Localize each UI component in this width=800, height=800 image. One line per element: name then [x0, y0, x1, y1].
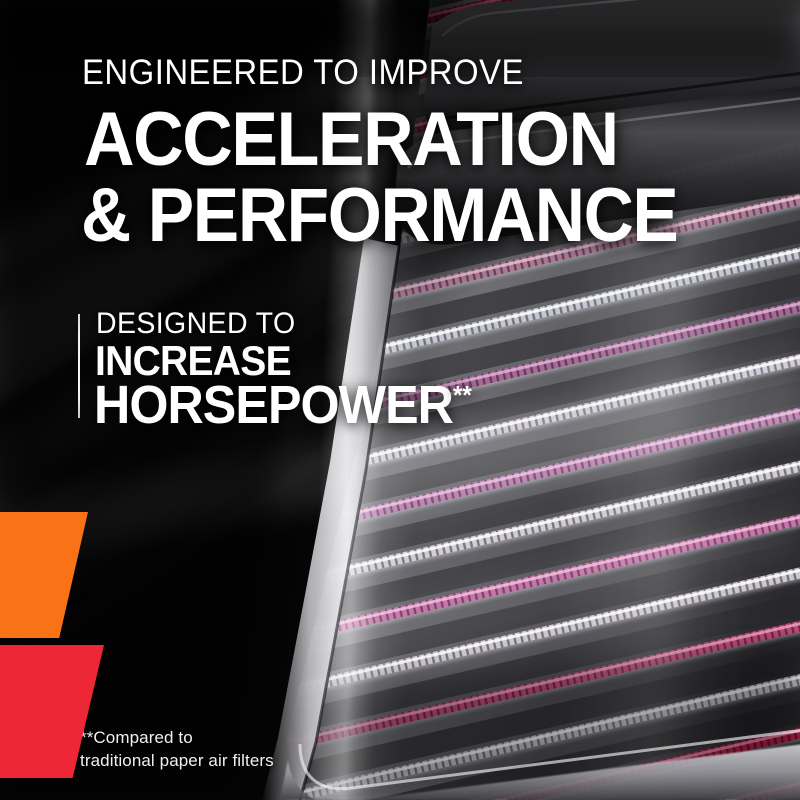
subheadline-rule	[78, 314, 80, 418]
subheadline-kicker: DESIGNED TO	[96, 309, 296, 339]
headline-line-2: & PERFORMANCE	[81, 178, 677, 254]
footnote-marker: **	[453, 380, 472, 410]
subheadline-line-2: HORSEPOWER**	[94, 378, 472, 432]
promo-banner: ENGINEERED TO IMPROVE ACCELERATION & PER…	[0, 0, 800, 800]
headline-line-1: ACCELERATION	[84, 102, 618, 178]
headline-kicker: ENGINEERED TO IMPROVE	[82, 55, 524, 90]
subheadline-line-2-text: HORSEPOWER	[94, 375, 453, 435]
footnote-text: **Compared to traditional paper air filt…	[80, 727, 274, 773]
